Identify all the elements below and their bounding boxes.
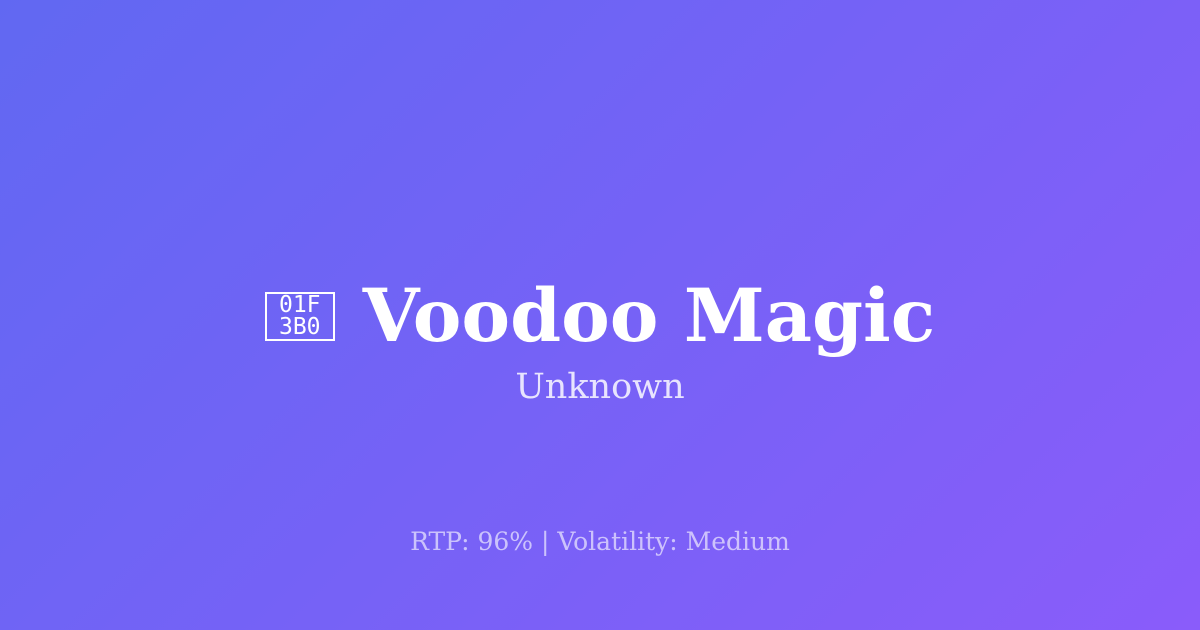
tofu-hex-top: 01F: [279, 294, 321, 316]
page-title: Voodoo Magic: [363, 280, 936, 353]
tofu-hex-bottom: 3B0: [279, 316, 321, 338]
game-meta-line: RTP: 96% | Volatility: Medium: [0, 526, 1200, 558]
slot-machine-emoji-icon: 01F 3B0: [265, 292, 335, 341]
provider-label: Unknown: [0, 365, 1200, 409]
og-card: 01F 3B0 Voodoo Magic Unknown RTP: 96% | …: [0, 0, 1200, 630]
